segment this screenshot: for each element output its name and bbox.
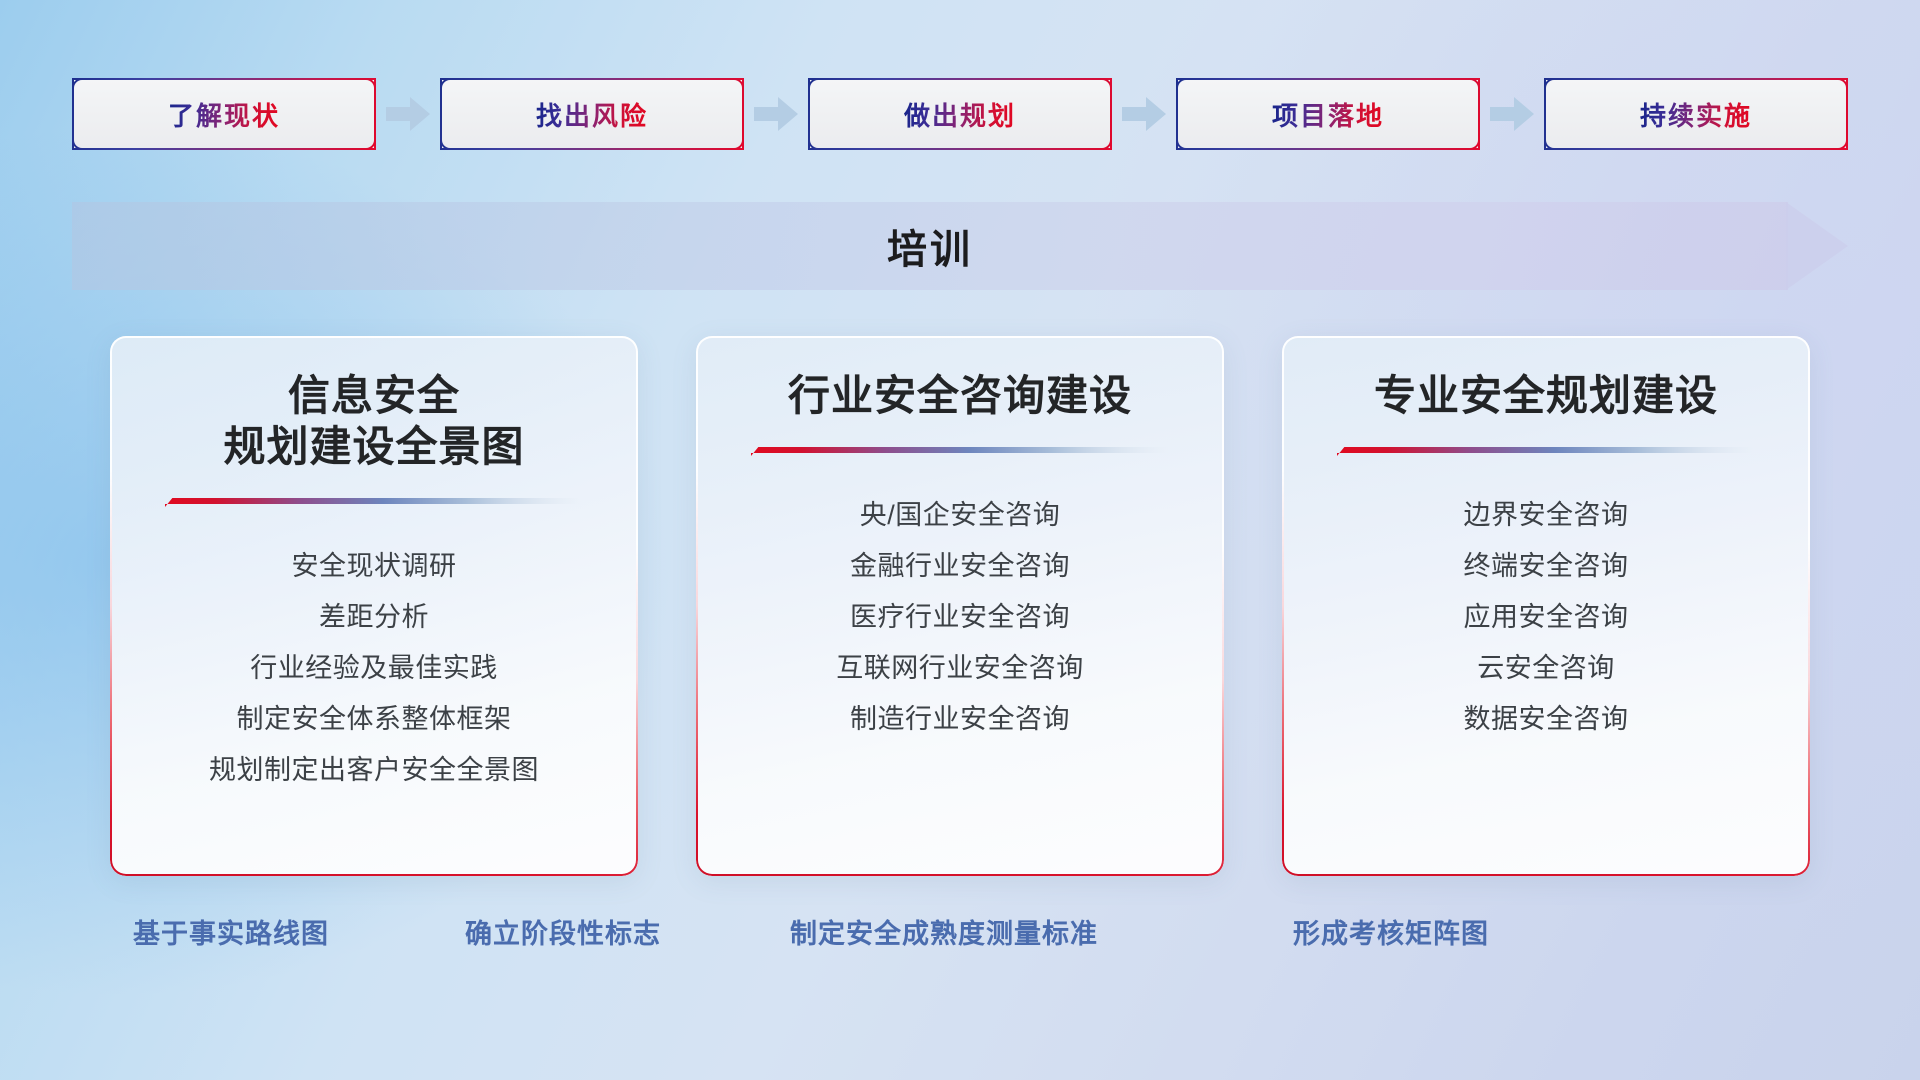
caption-0: 基于事实路线图 — [133, 912, 329, 951]
card-item-list: 边界安全咨询 终端安全咨询 应用安全咨询 云安全咨询 数据安全咨询 — [1464, 490, 1629, 745]
card-item-list: 安全现状调研 差距分析 行业经验及最佳实践 制定安全体系整体框架 规划制定出客户… — [209, 541, 539, 796]
banner-title: 培训 — [72, 202, 1788, 290]
card-row: 信息安全 规划建设全景图 安全现状调研 差 — [110, 336, 1810, 876]
list-item: 央/国企安全咨询 — [836, 490, 1084, 541]
gradient-rule-icon — [1337, 447, 1756, 456]
caption-3: 形成考核矩阵图 — [1293, 912, 1489, 951]
card-title-line1: 专业安全规划建设 — [1374, 370, 1718, 421]
list-item: 差距分析 — [209, 592, 539, 643]
card-information-security-panorama[interactable]: 信息安全 规划建设全景图 安全现状调研 差 — [110, 336, 638, 876]
process-step-label: 做出规划 — [904, 96, 1016, 133]
process-step-label: 找出风险 — [536, 96, 648, 133]
process-step-label: 持续实施 — [1640, 96, 1752, 133]
process-step-0[interactable]: 了解现状 — [72, 78, 376, 150]
list-item: 安全现状调研 — [209, 541, 539, 592]
card-title: 行业安全咨询建设 — [788, 370, 1132, 421]
card-title-line1: 行业安全咨询建设 — [788, 370, 1132, 421]
training-banner: 培训 — [72, 202, 1848, 290]
card-title: 专业安全规划建设 — [1374, 370, 1718, 421]
arrow-right-icon — [376, 92, 440, 136]
arrow-right-icon — [1480, 92, 1544, 136]
list-item: 金融行业安全咨询 — [836, 541, 1084, 592]
list-item: 制定安全体系整体框架 — [209, 694, 539, 745]
card-professional-security-planning[interactable]: 专业安全规划建设 边界安全咨询 终端安全咨询 — [1282, 336, 1810, 876]
list-item: 云安全咨询 — [1464, 643, 1629, 694]
card-title-line2: 规划建设全景图 — [223, 421, 524, 472]
gradient-rule-icon — [165, 498, 584, 507]
list-item: 行业经验及最佳实践 — [209, 643, 539, 694]
list-item: 数据安全咨询 — [1464, 694, 1629, 745]
card-item-list: 央/国企安全咨询 金融行业安全咨询 医疗行业安全咨询 互联网行业安全咨询 制造行… — [836, 490, 1084, 745]
process-step-1[interactable]: 找出风险 — [440, 78, 744, 150]
process-step-label: 了解现状 — [168, 96, 280, 133]
process-step-label: 项目落地 — [1272, 96, 1384, 133]
card-title-line1: 信息安全 — [223, 370, 524, 421]
caption-2: 制定安全成熟度测量标准 — [790, 912, 1098, 951]
list-item: 互联网行业安全咨询 — [836, 643, 1084, 694]
caption-1: 确立阶段性标志 — [465, 912, 661, 951]
arrow-right-icon — [744, 92, 808, 136]
card-title: 信息安全 规划建设全景图 — [223, 370, 524, 472]
process-step-2[interactable]: 做出规划 — [808, 78, 1112, 150]
list-item: 应用安全咨询 — [1464, 592, 1629, 643]
list-item: 医疗行业安全咨询 — [836, 592, 1084, 643]
gradient-rule-icon — [751, 447, 1170, 456]
list-item: 制造行业安全咨询 — [836, 694, 1084, 745]
process-step-bar: 了解现状 找出风险 做出规划 项目落地 持续实施 — [72, 78, 1848, 150]
banner-arrow-right-icon — [1786, 202, 1848, 290]
list-item: 边界安全咨询 — [1464, 490, 1629, 541]
process-step-3[interactable]: 项目落地 — [1176, 78, 1480, 150]
caption-row: 基于事实路线图 确立阶段性标志 制定安全成熟度测量标准 形成考核矩阵图 — [0, 912, 1920, 960]
list-item: 终端安全咨询 — [1464, 541, 1629, 592]
list-item: 规划制定出客户安全全景图 — [209, 745, 539, 796]
card-industry-security-consulting[interactable]: 行业安全咨询建设 央/国企安全咨询 金融行业安全咨询 — [696, 336, 1224, 876]
process-step-4[interactable]: 持续实施 — [1544, 78, 1848, 150]
arrow-right-icon — [1112, 92, 1176, 136]
